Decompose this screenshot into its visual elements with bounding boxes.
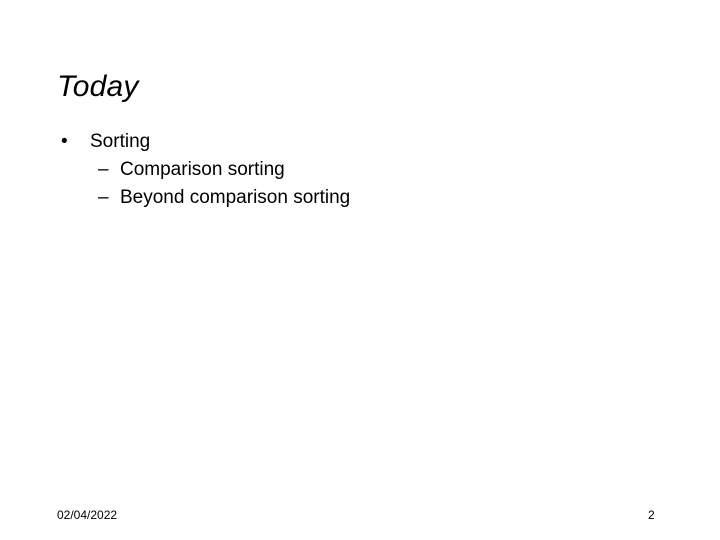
page-title: Today [57, 70, 139, 104]
presentation-slide: Today • Sorting – Comparison sorting – B… [0, 0, 720, 540]
list-item: – Beyond comparison sorting [98, 184, 657, 212]
list-item: – Comparison sorting [98, 156, 657, 184]
bullet-dash-icon: – [98, 156, 120, 184]
footer-date: 02/04/2022 [57, 508, 117, 522]
bullet-dash-icon: – [98, 184, 120, 212]
list-item-label: Beyond comparison sorting [120, 184, 657, 212]
list-item-label: Comparison sorting [120, 156, 657, 184]
slide-body-content: • Sorting – Comparison sorting – Beyond … [57, 128, 657, 212]
bullet-dot-icon: • [57, 128, 90, 155]
list-item: • Sorting [57, 128, 657, 155]
list-item-label: Sorting [90, 128, 657, 155]
footer-page-number: 2 [648, 508, 678, 522]
